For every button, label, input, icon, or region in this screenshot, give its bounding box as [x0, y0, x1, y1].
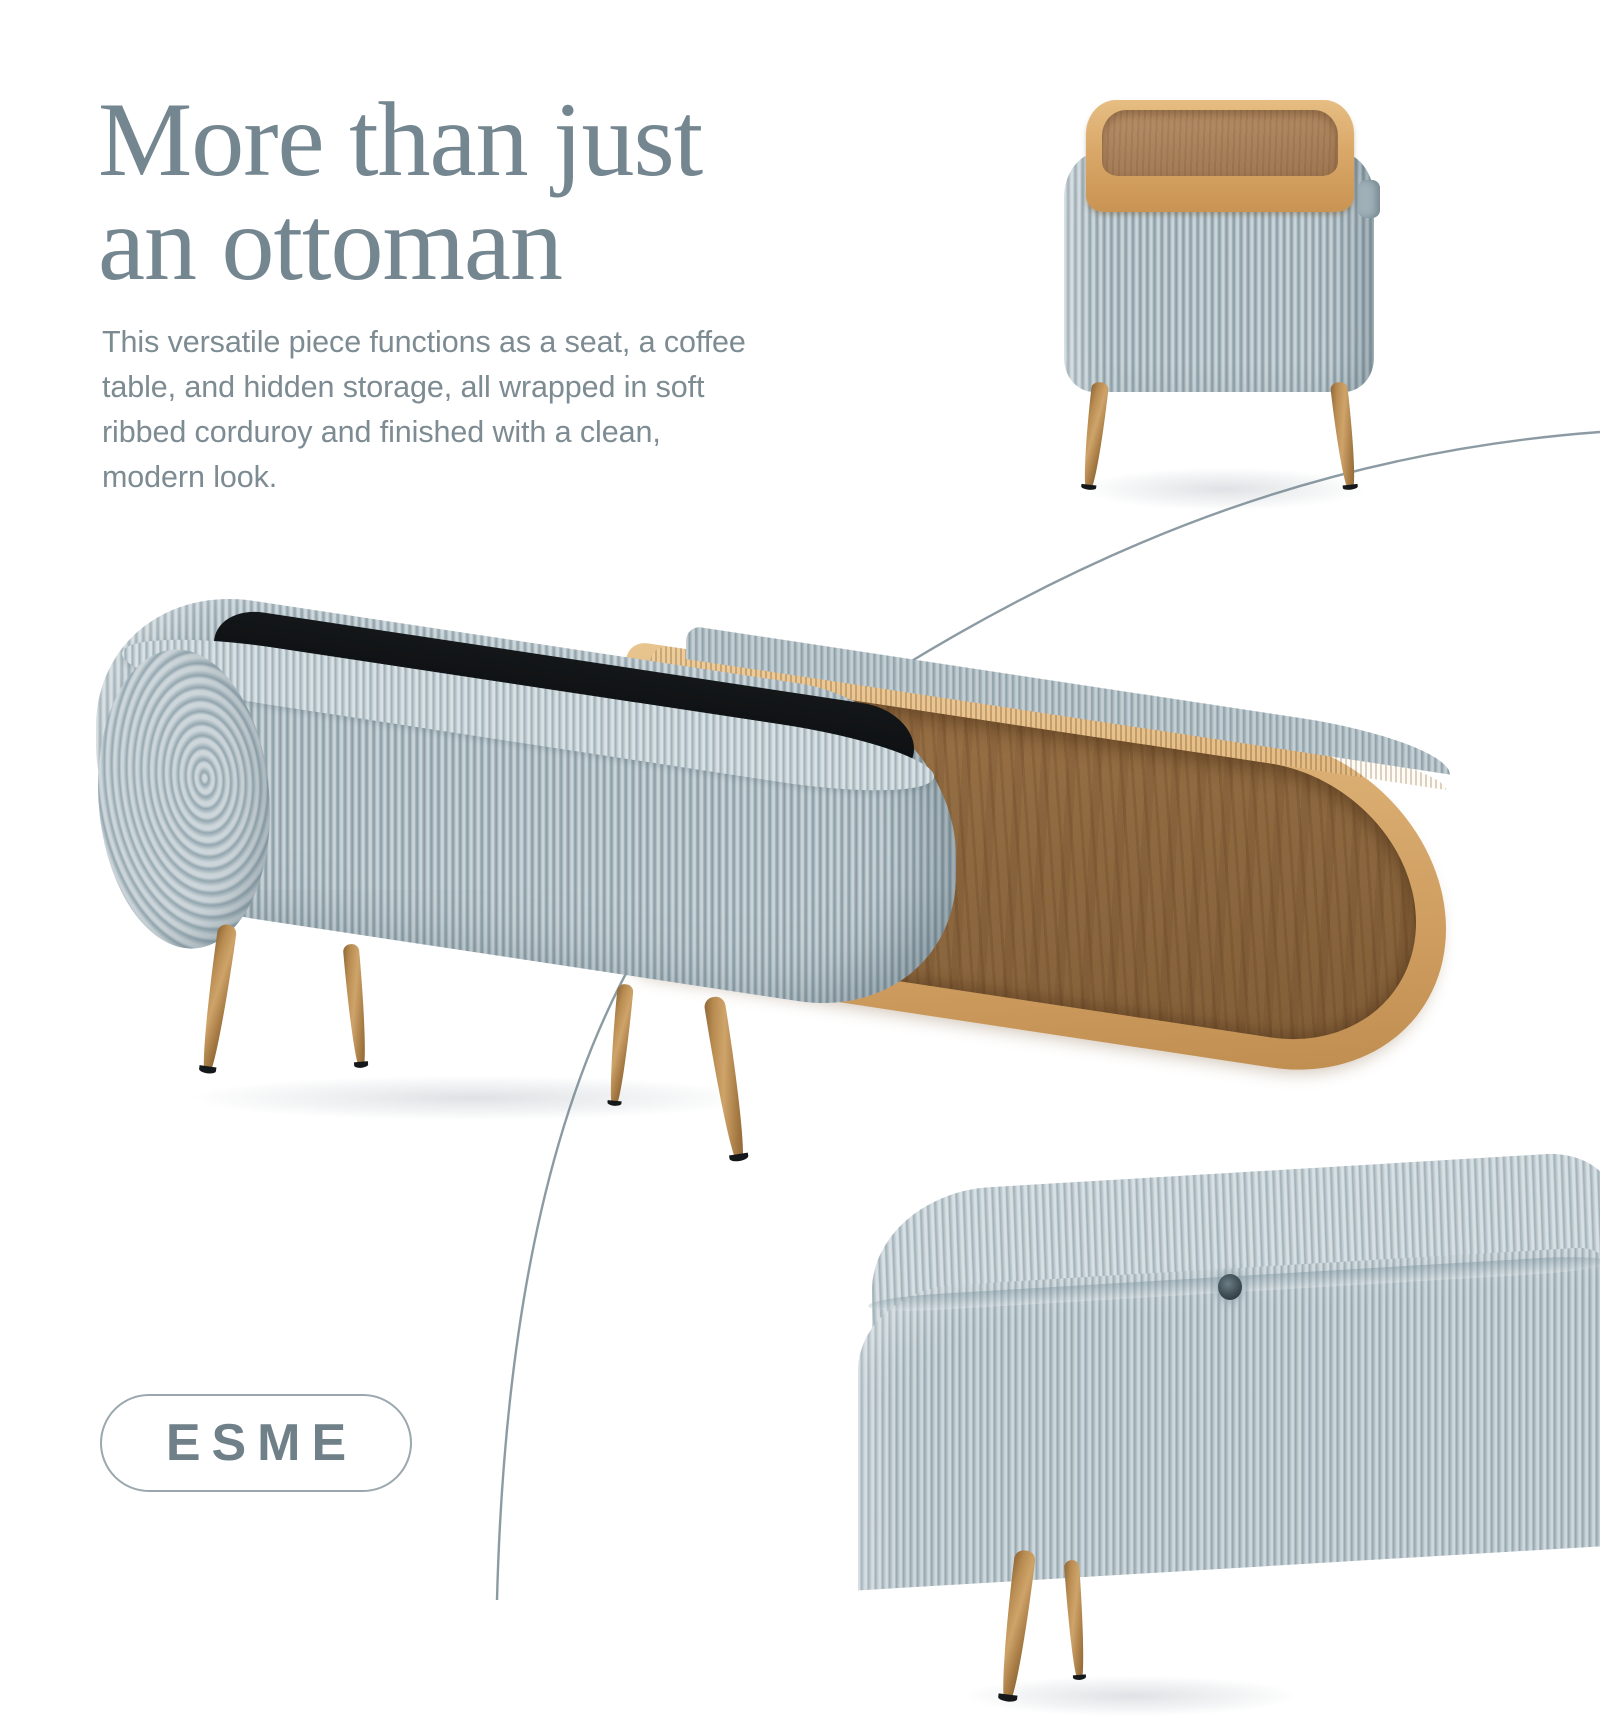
brand-badge-label: ESME — [155, 1413, 357, 1473]
fabric-tab-icon — [1358, 180, 1380, 218]
product-description: This versatile piece functions as a seat… — [102, 320, 832, 501]
photo-ottoman-end-view — [1040, 96, 1400, 496]
brand-badge: ESME — [100, 1394, 412, 1492]
wood-tray-recess — [1102, 110, 1338, 176]
floor-shadow — [192, 1076, 752, 1120]
wood-tray-lid — [1086, 100, 1354, 212]
wood-leg — [1080, 381, 1109, 490]
page-title: More than just an ottoman — [98, 88, 928, 296]
wood-leg — [1064, 1560, 1087, 1681]
floor-shadow — [1084, 468, 1364, 510]
photo-ottoman-closed-detail — [846, 1148, 1600, 1608]
wood-leg — [1330, 381, 1359, 490]
poster-canvas: More than just an ottoman This versatile… — [0, 0, 1600, 1600]
lid-button-detail — [1218, 1274, 1242, 1300]
photo-ottoman-open-with-tray — [96, 624, 1426, 1124]
wood-leg — [343, 944, 370, 1069]
